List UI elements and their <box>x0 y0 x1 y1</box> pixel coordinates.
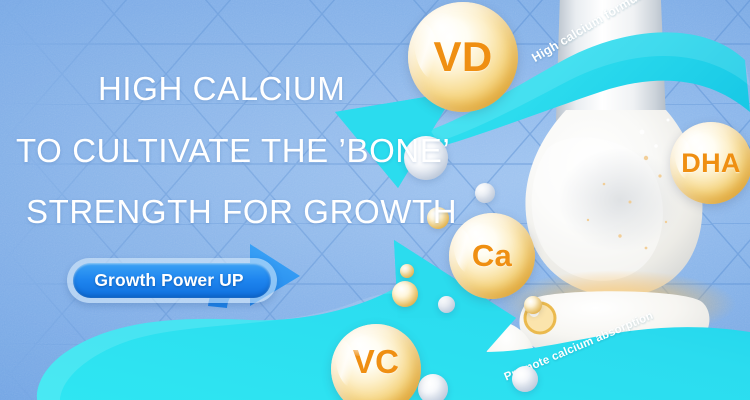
headline-line-3: STRENGTH FOR GROWTH <box>26 193 457 231</box>
headline-line-1: HIGH CALCIUM <box>98 70 345 108</box>
bubble-vc: VC <box>331 324 421 400</box>
bubble-dha-label: DHA <box>670 122 750 204</box>
bubble-vd: VD <box>408 2 518 112</box>
growth-power-up-button-label: Growth Power UP <box>94 270 249 291</box>
bubble-dha: DHA <box>670 122 750 204</box>
headline-line-2: TO CULTIVATE THE ’BONE’ <box>16 132 450 170</box>
bubble-ca-label: Ca <box>449 213 535 299</box>
decorative-white-sphere-4 <box>418 374 448 400</box>
bubble-ca: Ca <box>449 213 535 299</box>
decorative-gold-droplet-2 <box>392 281 418 307</box>
bubble-vc-label: VC <box>331 324 421 400</box>
bubble-vd-label: VD <box>408 2 518 112</box>
calcium-supplement-banner: High calcium formula Promote calcium abs… <box>0 0 750 400</box>
growth-power-up-button[interactable]: Growth Power UP <box>67 258 277 303</box>
decorative-white-sphere-2 <box>475 183 495 203</box>
growth-power-up-button-inner[interactable]: Growth Power UP <box>73 263 271 298</box>
decorative-gold-droplet-3 <box>400 264 414 278</box>
decorative-white-sphere-5 <box>512 366 538 392</box>
